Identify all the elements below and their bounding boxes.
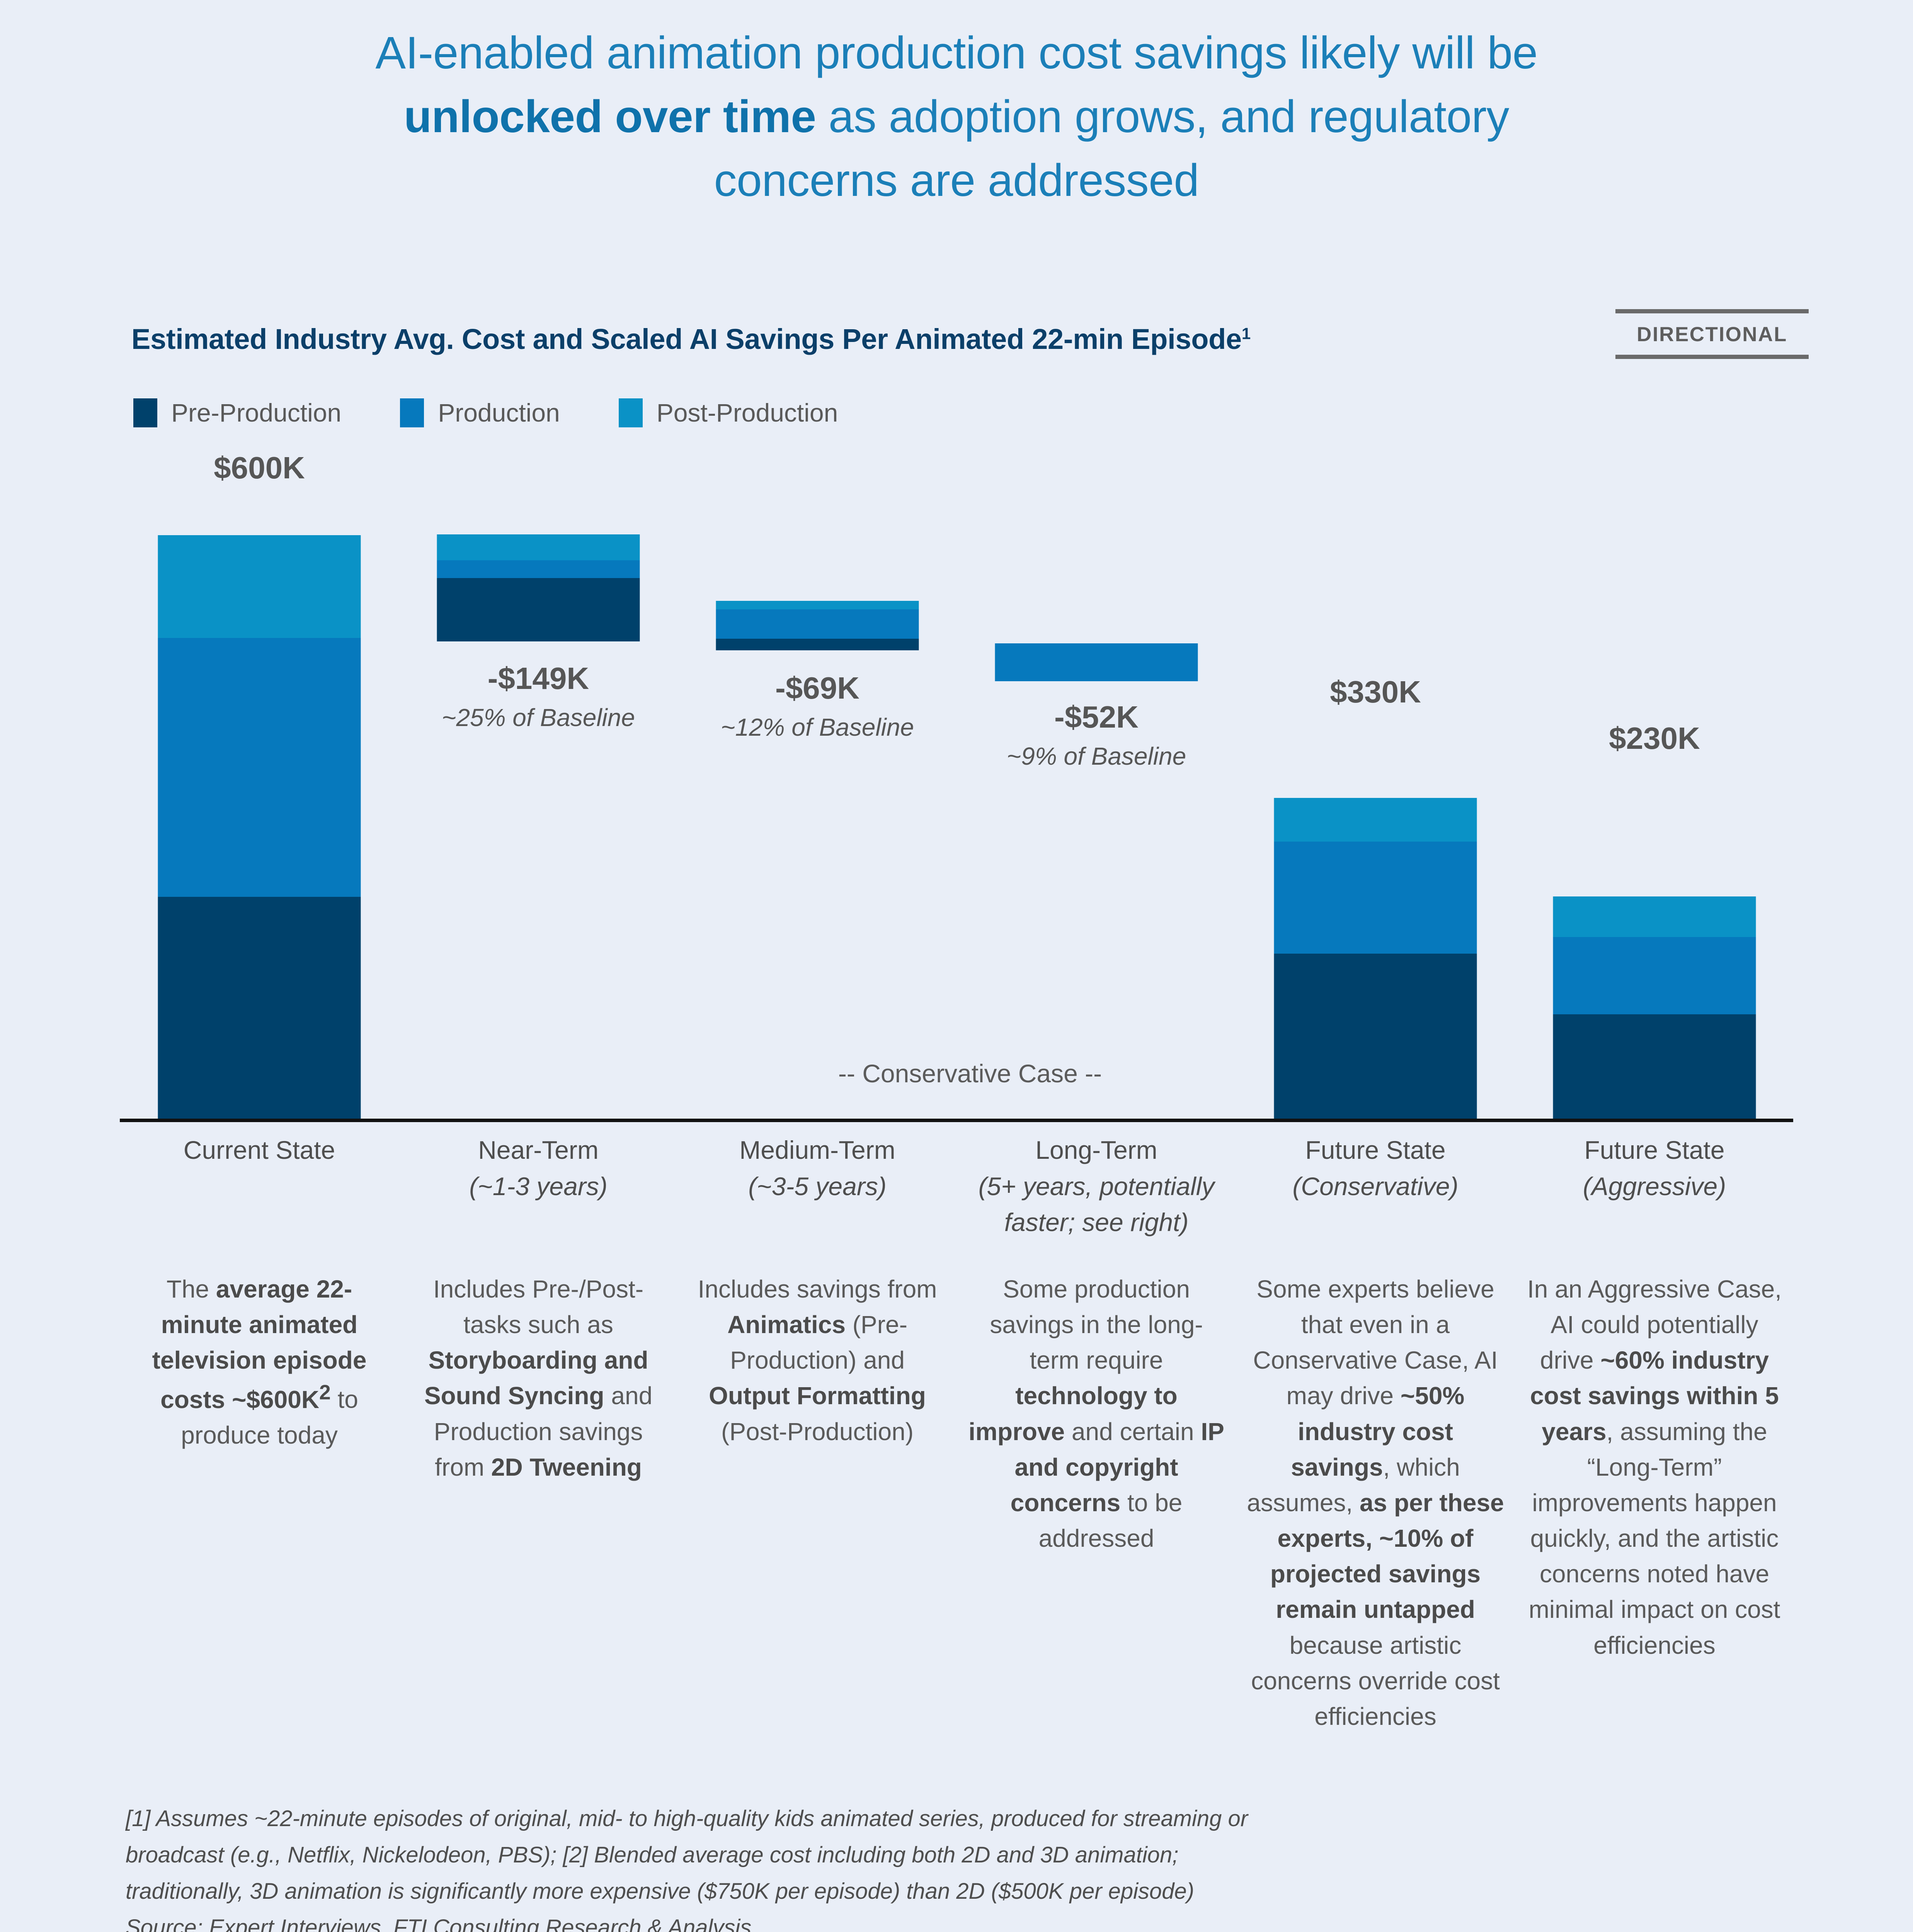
bar-segment-pre-production [437, 578, 640, 641]
description-near-term: Includes Pre-/Post- tasks such as Storyb… [399, 1271, 678, 1485]
footnote-line-1: [1] Assumes ~22-minute episodes of origi… [126, 1801, 1787, 1837]
chart-axis-line [120, 1119, 1793, 1122]
legend-swatch-icon [619, 398, 643, 427]
x-axis-label-medium-term: Medium-Term (~3-5 years) [678, 1132, 957, 1204]
page-title: AI-enabled animation production cost sav… [128, 21, 1785, 213]
chart-column-current-state: $600K [120, 479, 399, 1119]
x-axis-label-line1: Near-Term [478, 1136, 599, 1164]
x-axis-label-line2: (~1-3 years) [399, 1168, 678, 1205]
badge-rule-top [1615, 309, 1809, 313]
legend-swatch-icon [133, 398, 157, 427]
x-axis-label-line1: Future State [1584, 1136, 1724, 1164]
legend-label: Pre-Production [171, 398, 341, 427]
headline-line-3: concerns are addressed [714, 155, 1199, 206]
bar-segment-post-production [437, 534, 640, 560]
bar-segment-post-production [158, 535, 361, 638]
bar-segment-production [1274, 842, 1477, 954]
status-badge-label: DIRECTIONAL [1615, 313, 1809, 355]
legend-swatch-icon [400, 398, 424, 427]
bar-segment-pre-production [158, 897, 361, 1119]
bar-value-label: $230K [1515, 721, 1794, 756]
bar-long-term[interactable] [995, 643, 1198, 681]
description-future-state-conservative: Some experts believe that even in a Cons… [1236, 1271, 1515, 1734]
chart-column-near-term: -$149K ~25% of Baseline [399, 479, 678, 1119]
bar-future-state-conservative[interactable] [1274, 798, 1477, 1119]
x-axis-label-line2: (Aggressive) [1515, 1168, 1794, 1205]
chart-column-future-state-conservative: $330K [1236, 479, 1515, 1119]
x-axis-label-near-term: Near-Term (~1-3 years) [399, 1132, 678, 1204]
bar-segment-production [1553, 937, 1756, 1014]
chart-column-medium-term: -$69K ~12% of Baseline [678, 479, 957, 1119]
bar-segment-post-production [1553, 896, 1756, 937]
bar-segment-production [995, 643, 1198, 681]
legend-item-post-production[interactable]: Post-Production [619, 398, 838, 427]
bar-value-label: -$69K [678, 670, 957, 706]
footnotes: [1] Assumes ~22-minute episodes of origi… [126, 1801, 1787, 1932]
chart-column-long-term: -$52K ~9% of Baseline [957, 479, 1236, 1119]
bar-near-term[interactable] [437, 534, 640, 641]
x-axis-label-line1: Long-Term [1035, 1136, 1157, 1164]
footnote-source-line: Source: Expert Interviews, FTI Consultin… [126, 1910, 1787, 1932]
description-long-term: Some production savings in the long-term… [957, 1271, 1236, 1556]
bar-value-label: $330K [1236, 674, 1515, 710]
bar-segment-pre-production [1553, 1014, 1756, 1119]
bar-segment-post-production [716, 601, 919, 609]
x-axis-label-line1: Future State [1305, 1136, 1445, 1164]
bar-value-label: -$52K [957, 699, 1236, 735]
x-axis-label-future-state-conservative: Future State (Conservative) [1236, 1132, 1515, 1204]
legend-label: Post-Production [657, 398, 838, 427]
chart-x-axis-labels: Current State Near-Term (~1-3 years) Med… [120, 1132, 1793, 1244]
bar-sub-label: ~12% of Baseline [678, 713, 957, 742]
conservative-case-annotation: -- Conservative Case -- [661, 1059, 1279, 1088]
chart-title-text: Estimated Industry Avg. Cost and Scaled … [131, 323, 1242, 355]
status-badge: DIRECTIONAL [1615, 309, 1809, 359]
x-axis-label-line1: Current State [184, 1136, 335, 1164]
bar-current-state[interactable] [158, 535, 361, 1119]
bar-sub-label: ~9% of Baseline [957, 742, 1236, 770]
headline-line-2-rest: as adoption grows, and regulatory [816, 91, 1509, 142]
description-current-state: The average 22-minute animated televisio… [120, 1271, 399, 1453]
chart-column-future-state-aggressive: $230K [1515, 479, 1794, 1119]
bar-segment-production [437, 560, 640, 578]
bar-segment-pre-production [1274, 954, 1477, 1119]
stacked-bar-chart: $600K -$149K ~25% of Baseline [120, 479, 1793, 1121]
x-axis-label-line2: (~3-5 years) [678, 1168, 957, 1205]
bar-segment-production [158, 638, 361, 897]
bar-segment-pre-production [716, 639, 919, 650]
bar-value-label: -$149K [399, 661, 678, 696]
badge-rule-bottom [1615, 355, 1809, 359]
headline-line-1: AI-enabled animation production cost sav… [375, 27, 1537, 78]
legend-item-production[interactable]: Production [400, 398, 560, 427]
footnote-line-3: traditionally, 3D animation is significa… [126, 1873, 1787, 1910]
slide-page: AI-enabled animation production cost sav… [0, 0, 1913, 1932]
x-axis-label-future-state-aggressive: Future State (Aggressive) [1515, 1132, 1794, 1204]
description-medium-term: Includes savings from Animatics (Pre-Pro… [678, 1271, 957, 1449]
legend-label: Production [438, 398, 560, 427]
x-axis-label-line2: (5+ years, potentially faster; see right… [957, 1168, 1236, 1241]
bar-value-label: $600K [120, 450, 399, 486]
bar-medium-term[interactable] [716, 601, 919, 650]
x-axis-label-current-state: Current State [120, 1132, 399, 1168]
bar-segment-post-production [1274, 798, 1477, 842]
chart-title-footnote-marker: 1 [1242, 324, 1251, 342]
description-future-state-aggressive: In an Aggressive Case, AI could potentia… [1515, 1271, 1794, 1663]
x-axis-label-long-term: Long-Term (5+ years, potentially faster;… [957, 1132, 1236, 1241]
headline-bold-phrase: unlocked over time [404, 91, 816, 142]
x-axis-label-line2: (Conservative) [1236, 1168, 1515, 1205]
bar-segment-production [716, 609, 919, 639]
bar-sub-label: ~25% of Baseline [399, 703, 678, 732]
footnote-line-2: broadcast (e.g., Netflix, Nickelodeon, P… [126, 1837, 1787, 1873]
chart-legend: Pre-Production Production Post-Productio… [133, 398, 897, 427]
chart-title: Estimated Industry Avg. Cost and Scaled … [131, 323, 1251, 355]
x-axis-label-line1: Medium-Term [739, 1136, 895, 1164]
bar-future-state-aggressive[interactable] [1553, 896, 1756, 1119]
legend-item-pre-production[interactable]: Pre-Production [133, 398, 341, 427]
